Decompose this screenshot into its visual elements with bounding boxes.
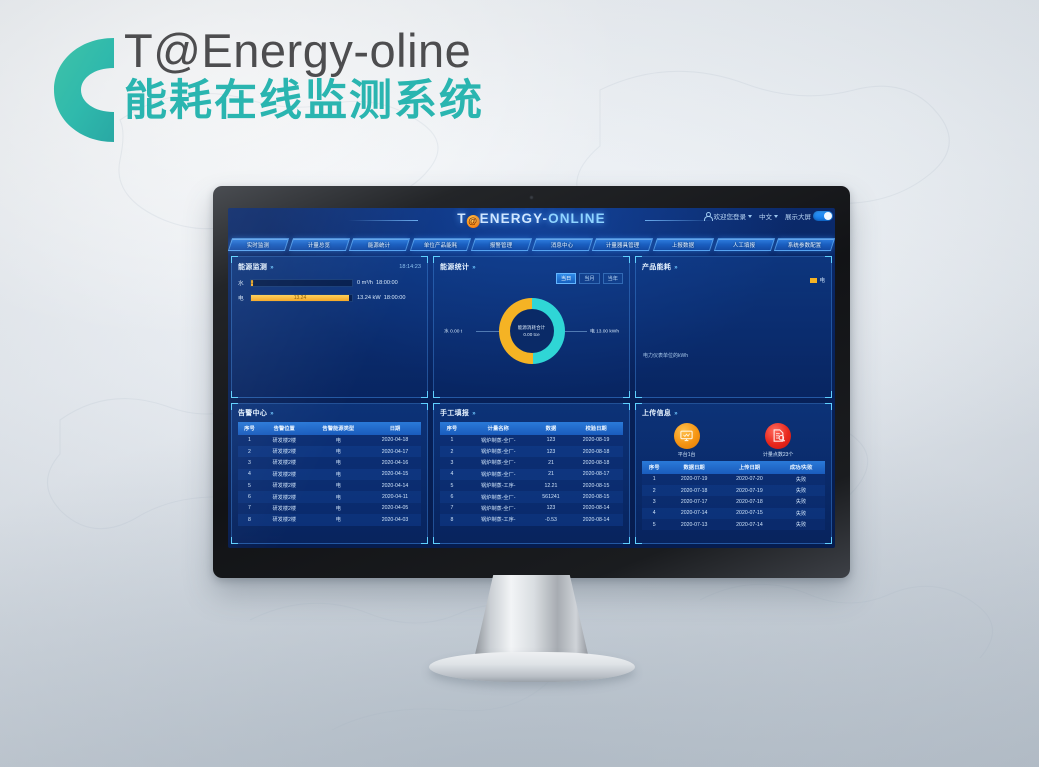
table-row[interactable]: 8锅炉制蒸-工序--0.532020-08-14	[440, 514, 623, 525]
donut-label-right: 电 13.00 kWh	[590, 328, 619, 335]
nav-label-2: 能源统计	[369, 241, 391, 249]
panel-alarm-center: 告警中心» 序号告警位置告警能源类型日期 1研发楼2楼电2020-04-182研…	[231, 403, 428, 545]
panel-energy-statistics: 能源统计» 当日 当月 当年 水 0.00 t 电 13.00 kWh	[433, 256, 630, 398]
page-title: T@Energy-oline	[124, 26, 484, 75]
nav-label-9: 系统参数配置	[788, 241, 822, 249]
table-cell: 2020-04-15	[369, 469, 421, 480]
table-cell: -0.53	[533, 514, 569, 525]
water-bar-track: 0	[250, 279, 353, 287]
table-row[interactable]: 4锅炉制蒸-全厂-212020-08-17	[440, 469, 623, 480]
table-cell: 5	[642, 519, 666, 530]
tab-day[interactable]: 当日	[556, 273, 576, 284]
dashboard-grid: 能源监测» 18:14:23 水 0 0 m³/h 18:00:00 电 13.	[228, 251, 835, 548]
table-cell: 失败	[777, 496, 825, 507]
nav-item-1[interactable]: 计量总览	[289, 238, 350, 251]
upload-points-label: 计量点数23个	[763, 451, 794, 458]
alarm-table-body: 1研发楼2楼电2020-04-182研发楼2楼电2020-04-173研发楼2楼…	[238, 435, 421, 526]
table-cell: 2020-08-14	[569, 503, 623, 514]
column-header: 告警能源类型	[308, 422, 369, 435]
nav-item-2[interactable]: 能源统计	[349, 238, 410, 251]
alarm-table: 序号告警位置告警能源类型日期 1研发楼2楼电2020-04-182研发楼2楼电2…	[238, 422, 421, 526]
table-cell: 12.21	[533, 480, 569, 491]
table-row[interactable]: 5研发楼2楼电2020-04-14	[238, 480, 421, 491]
nav-label-7: 上报数据	[672, 241, 694, 249]
table-cell: 123	[533, 503, 569, 514]
table-cell: 锅炉制蒸-工序-	[464, 480, 533, 491]
table-cell: 3	[642, 496, 666, 507]
monitor-bezel: T@ENERGY-ONLINE 欢迎您登录 中文 展示大屏	[213, 186, 850, 578]
nav-item-6[interactable]: 计量器具管理	[592, 238, 653, 251]
donut-center-label: 能源消耗合计 0.00 tce	[499, 298, 565, 364]
main-nav: 实时监测 计量总览 能源统计 单位产品能耗 报警管理 消息中心 计量器具管理 上…	[228, 234, 835, 251]
table-cell: 失败	[777, 519, 825, 530]
nav-item-8[interactable]: 人工填报	[714, 238, 775, 251]
logo-prefix: T	[457, 211, 466, 226]
manual-table-body: 1锅炉制蒸-全厂-1232020-08-192锅炉制蒸-全厂-1232020-0…	[440, 435, 623, 526]
table-cell: 2	[440, 446, 464, 457]
document-search-icon	[765, 423, 791, 449]
table-cell: 1	[642, 474, 666, 485]
product-title: 产品能耗»	[642, 262, 678, 272]
table-cell: 研发楼2楼	[261, 446, 308, 457]
table-row[interactable]: 3锅炉制蒸-全厂-212020-08-18	[440, 457, 623, 468]
alarm-title: 告警中心»	[238, 408, 274, 418]
table-cell: 电	[308, 457, 369, 468]
table-row[interactable]: 4研发楼2楼电2020-04-15	[238, 469, 421, 480]
table-cell: 锅炉制蒸-全厂-	[464, 469, 533, 480]
user-icon	[704, 212, 712, 220]
product-note: 电力仪表单位的kWh	[643, 352, 688, 359]
table-row[interactable]: 3研发楼2楼电2020-04-16	[238, 457, 421, 468]
table-cell: 研发楼2楼	[261, 480, 308, 491]
table-cell: 2020-08-17	[569, 469, 623, 480]
manual-table-head: 序号计量名称数据校验日期	[440, 422, 623, 435]
table-cell: 2020-04-18	[369, 435, 421, 446]
table-cell: 2020-07-17	[666, 496, 721, 507]
table-cell: 2020-08-18	[569, 457, 623, 468]
bigscreen-toggle[interactable]	[813, 211, 833, 221]
table-cell: 3	[238, 457, 261, 468]
nav-label-8: 人工填报	[733, 241, 755, 249]
table-cell: 5	[238, 480, 261, 491]
manual-table: 序号计量名称数据校验日期 1锅炉制蒸-全厂-1232020-08-192锅炉制蒸…	[440, 422, 623, 526]
table-cell: 2	[238, 446, 261, 457]
statistics-title: 能源统计»	[440, 262, 476, 272]
table-row[interactable]: 32020-07-172020-07-18失败	[642, 496, 825, 507]
table-cell: 4	[440, 469, 464, 480]
upload-stat-platform: 平台1台	[674, 423, 700, 458]
webcam-icon	[529, 195, 534, 200]
table-cell: 2020-04-17	[369, 446, 421, 457]
table-cell: 3	[440, 457, 464, 468]
nav-label-3: 单位产品能耗	[424, 241, 458, 249]
language-menu[interactable]: 中文	[759, 211, 778, 221]
table-cell: 2020-08-15	[569, 491, 623, 502]
table-cell: 2020-04-05	[369, 503, 421, 514]
nav-label-5: 消息中心	[551, 241, 573, 249]
table-cell: 2020-08-19	[569, 435, 623, 446]
realtime-row-water: 水 0 0 m³/h 18:00:00	[238, 279, 421, 287]
column-header: 序号	[642, 461, 666, 474]
table-cell: 锅炉制蒸-全厂-	[464, 503, 533, 514]
table-cell: 2020-04-11	[369, 491, 421, 502]
table-cell: 1	[440, 435, 464, 446]
upload-stat-icons: 平台1台 计量点数23个	[642, 423, 825, 458]
logo-suffix: ONLINE	[548, 211, 606, 226]
table-cell: 4	[642, 508, 666, 519]
table-cell: 2	[642, 485, 666, 496]
page-subtitle: 能耗在线监测系统	[124, 77, 484, 126]
column-header: 上传日期	[722, 461, 777, 474]
table-row[interactable]: 6锅炉制蒸-全厂-5612412020-08-15	[440, 491, 623, 502]
monitor-stand-base	[429, 652, 635, 682]
table-cell: 电	[308, 446, 369, 457]
table-cell: 失败	[777, 485, 825, 496]
nav-item-0[interactable]: 实时监测	[228, 238, 289, 251]
table-cell: 锅炉制蒸-全厂-	[464, 435, 533, 446]
column-header: 数据日期	[666, 461, 721, 474]
nav-item-5[interactable]: 消息中心	[531, 238, 592, 251]
electricity-bar-track: 13.24	[250, 294, 353, 302]
column-header: 计量名称	[464, 422, 533, 435]
manual-title: 手工填报»	[440, 408, 476, 418]
user-area: 欢迎您登录 中文 展示大屏	[704, 211, 834, 221]
table-cell: 研发楼2楼	[261, 503, 308, 514]
table-row[interactable]: 22020-07-182020-07-19失败	[642, 485, 825, 496]
table-cell: 561241	[533, 491, 569, 502]
table-row[interactable]: 12020-07-192020-07-20失败	[642, 474, 825, 485]
column-header: 成功/失败	[777, 461, 825, 474]
table-row[interactable]: 2研发楼2楼电2020-04-17	[238, 446, 421, 457]
table-row[interactable]: 52020-07-132020-07-14失败	[642, 519, 825, 530]
table-row[interactable]: 8研发楼2楼电2020-04-03	[238, 514, 421, 525]
panel-realtime-monitoring: 能源监测» 18:14:23 水 0 0 m³/h 18:00:00 电 13.	[231, 256, 428, 398]
table-cell: 2020-07-19	[722, 485, 777, 496]
energy-donut-chart: 水 0.00 t 电 13.00 kWh 能源消耗合计 0.00 tce	[440, 285, 623, 377]
table-cell: 电	[308, 435, 369, 446]
nav-item-7[interactable]: 上报数据	[653, 238, 714, 251]
user-name: 欢迎您登录	[714, 211, 747, 221]
product-legend: 电	[642, 276, 825, 284]
table-cell: 2020-07-14	[722, 519, 777, 530]
bigscreen-toggle-group[interactable]: 展示大屏	[785, 211, 833, 221]
table-cell: 6	[440, 491, 464, 502]
table-cell: 5	[440, 480, 464, 491]
realtime-title: 能源监测»	[238, 262, 274, 272]
upload-table-head: 序号数据日期上传日期成功/失败	[642, 461, 825, 474]
water-bar-text: 0	[251, 280, 254, 286]
column-header: 校验日期	[569, 422, 623, 435]
donut-label-left: 水 0.00 t	[444, 328, 462, 335]
table-cell: 2020-07-15	[722, 508, 777, 519]
donut-center-line1: 能源消耗合计	[518, 325, 546, 331]
electricity-bar-fill: 13.24	[251, 295, 349, 301]
column-header: 告警位置	[261, 422, 308, 435]
dashboard-logo: T@ENERGY-ONLINE	[457, 211, 605, 228]
table-cell: 2020-08-15	[569, 480, 623, 491]
table-row[interactable]: 5锅炉制蒸-工序-12.212020-08-15	[440, 480, 623, 491]
table-cell: 7	[440, 503, 464, 514]
table-row[interactable]: 1研发楼2楼电2020-04-18	[238, 435, 421, 446]
table-cell: 2020-07-20	[722, 474, 777, 485]
electricity-bar-text: 13.24	[294, 295, 307, 301]
panel-upload-info: 上传信息» 平台1台	[635, 403, 832, 545]
table-cell: 研发楼2楼	[261, 457, 308, 468]
chevron-down-icon-lang	[774, 215, 778, 218]
table-cell: 123	[533, 435, 569, 446]
table-row[interactable]: 6研发楼2楼电2020-04-11	[238, 491, 421, 502]
table-cell: 2020-07-14	[666, 508, 721, 519]
column-header: 序号	[440, 422, 464, 435]
electricity-value: 13.24 kW 18:00:00	[357, 295, 421, 301]
bigscreen-label: 展示大屏	[785, 211, 811, 221]
column-header: 日期	[369, 422, 421, 435]
table-cell: 7	[238, 503, 261, 514]
table-cell: 2020-04-14	[369, 480, 421, 491]
upload-stat-points: 计量点数23个	[763, 423, 794, 458]
table-row[interactable]: 7研发楼2楼电2020-04-05	[238, 503, 421, 514]
nav-label-0: 实时监测	[247, 241, 269, 249]
language-label: 中文	[759, 211, 772, 221]
statistics-tabs: 当日 当月 当年	[440, 273, 623, 284]
upload-title: 上传信息»	[642, 408, 678, 418]
table-cell: 电	[308, 503, 369, 514]
legend-swatch-electricity	[810, 278, 817, 283]
logo-main: ENERGY-	[480, 211, 548, 226]
table-cell: 21	[533, 457, 569, 468]
table-cell: 电	[308, 491, 369, 502]
table-row[interactable]: 7锅炉制蒸-全厂-1232020-08-14	[440, 503, 623, 514]
tab-month[interactable]: 当月	[579, 273, 599, 284]
water-bar-fill: 0	[251, 280, 253, 286]
chevron-down-icon	[748, 215, 752, 218]
monitor: T@ENERGY-ONLINE 欢迎您登录 中文 展示大屏	[213, 186, 850, 578]
table-row[interactable]: 42020-07-142020-07-15失败	[642, 508, 825, 519]
table-cell: 研发楼2楼	[261, 514, 308, 525]
table-cell: 2020-07-13	[666, 519, 721, 530]
table-cell: 8	[238, 514, 261, 525]
table-cell: 研发楼2楼	[261, 435, 308, 446]
nav-item-9[interactable]: 系统参数配置	[774, 238, 835, 251]
user-menu[interactable]: 欢迎您登录	[704, 211, 753, 221]
water-value: 0 m³/h 18:00:00	[357, 280, 421, 286]
table-cell: 电	[308, 480, 369, 491]
table-cell: 8	[440, 514, 464, 525]
panel-manual-entry: 手工填报» 序号计量名称数据校验日期 1锅炉制蒸-全厂-1232020-08-1…	[433, 403, 630, 545]
logo-at-icon: @	[467, 215, 480, 228]
table-cell: 2020-04-16	[369, 457, 421, 468]
logo-wing-left	[348, 220, 418, 221]
nav-label-4: 报警管理	[490, 241, 512, 249]
table-cell: 2020-07-19	[666, 474, 721, 485]
table-cell: 电	[308, 469, 369, 480]
upload-table: 序号数据日期上传日期成功/失败 12020-07-192020-07-20失败2…	[642, 461, 825, 531]
table-cell: 失败	[777, 474, 825, 485]
nav-label-6: 计量器具管理	[606, 241, 640, 249]
table-cell: 1	[238, 435, 261, 446]
table-cell: 2020-07-18	[666, 485, 721, 496]
monitor-stand-neck	[474, 575, 590, 661]
brand-header: T@Energy-oline 能耗在线监测系统	[48, 26, 484, 148]
donut-ring: 能源消耗合计 0.00 tce	[499, 298, 565, 364]
upload-table-body: 12020-07-192020-07-20失败22020-07-182020-0…	[642, 474, 825, 531]
tab-year[interactable]: 当年	[603, 273, 623, 284]
table-cell: 2020-08-18	[569, 446, 623, 457]
donut-center-line2: 0.00 tce	[523, 332, 539, 337]
table-row[interactable]: 1锅炉制蒸-全厂-1232020-08-19	[440, 435, 623, 446]
table-cell: 研发楼2楼	[261, 469, 308, 480]
nav-label-1: 计量总览	[308, 241, 330, 249]
alarm-table-head: 序号告警位置告警能源类型日期	[238, 422, 421, 435]
table-cell: 123	[533, 446, 569, 457]
table-cell: 锅炉制蒸-全厂-	[464, 446, 533, 457]
table-cell: 21	[533, 469, 569, 480]
table-cell: 6	[238, 491, 261, 502]
realtime-time: 18:14:23	[399, 264, 421, 270]
device-monitor-icon	[674, 423, 700, 449]
table-cell: 锅炉制蒸-全厂-	[464, 457, 533, 468]
electricity-label: 电	[238, 294, 246, 302]
dashboard-header: T@ENERGY-ONLINE 欢迎您登录 中文 展示大屏	[228, 208, 835, 234]
panel-product-energy: 产品能耗» 电 电力仪表单位的kWh	[635, 256, 832, 398]
nav-item-3[interactable]: 单位产品能耗	[410, 238, 471, 251]
table-cell: 失败	[777, 508, 825, 519]
table-cell: 锅炉制蒸-全厂-	[464, 491, 533, 502]
table-cell: 2020-04-03	[369, 514, 421, 525]
realtime-row-electricity: 电 13.24 13.24 kW 18:00:00	[238, 294, 421, 302]
column-header: 序号	[238, 422, 261, 435]
table-cell: 4	[238, 469, 261, 480]
table-cell: 锅炉制蒸-工序-	[464, 514, 533, 525]
dashboard-screen: T@ENERGY-ONLINE 欢迎您登录 中文 展示大屏	[228, 208, 835, 548]
upload-platform-label: 平台1台	[674, 451, 700, 458]
column-header: 数据	[533, 422, 569, 435]
water-label: 水	[238, 279, 246, 287]
table-cell: 2020-08-14	[569, 514, 623, 525]
legend-label-electricity: 电	[820, 276, 825, 284]
c-logo-icon	[48, 32, 114, 148]
table-cell: 电	[308, 514, 369, 525]
nav-item-4[interactable]: 报警管理	[471, 238, 532, 251]
table-row[interactable]: 2锅炉制蒸-全厂-1232020-08-18	[440, 446, 623, 457]
table-cell: 2020-07-18	[722, 496, 777, 507]
table-cell: 研发楼2楼	[261, 491, 308, 502]
